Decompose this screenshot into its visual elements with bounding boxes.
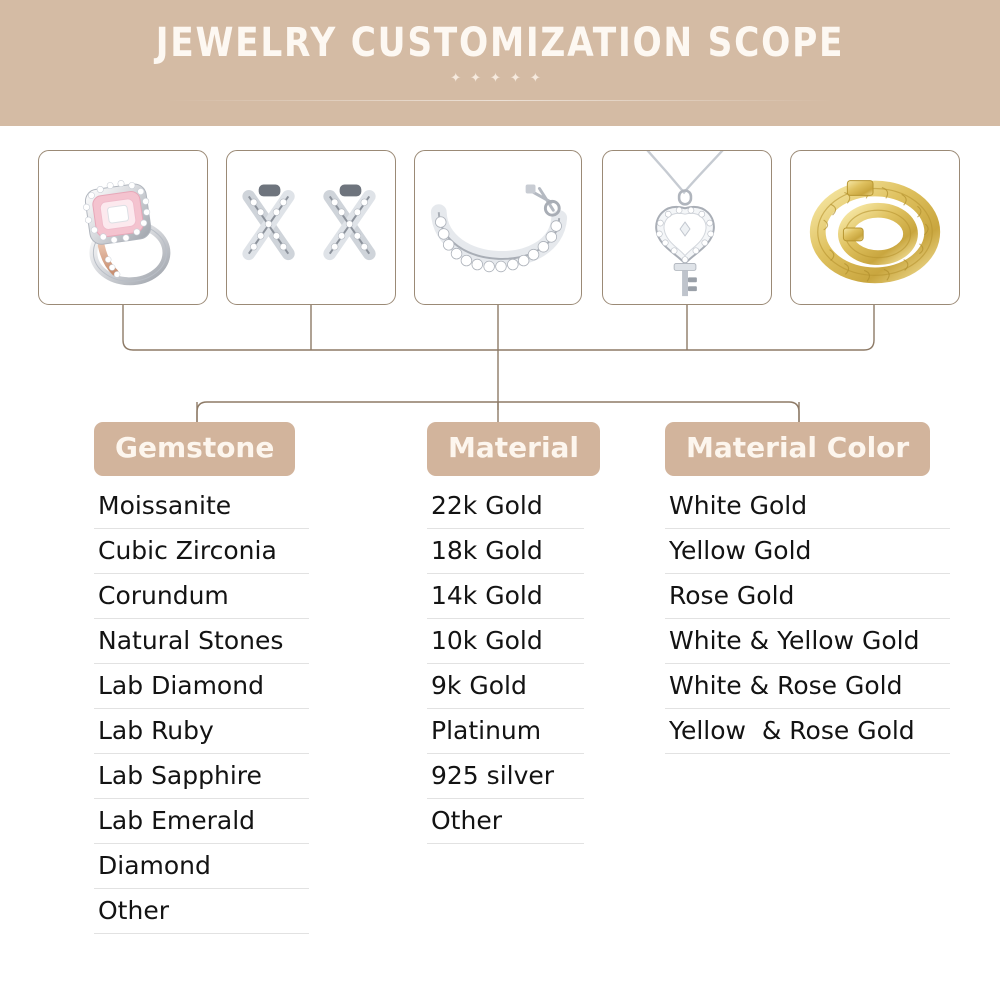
list-item[interactable]: Cubic Zirconia (94, 529, 309, 574)
page-title-part-2: CUSTOMIZATION SCOPE (351, 20, 845, 66)
list-item[interactable]: 925 silver (427, 754, 584, 799)
option-list-material-color: White Gold Yellow Gold Rose Gold White &… (665, 484, 950, 754)
product-card-earrings[interactable] (226, 150, 396, 305)
list-item[interactable]: 10k Gold (427, 619, 584, 664)
category-column-gemstone: Gemstone Moissanite Cubic Zirconia Corun… (94, 422, 309, 476)
option-list-gemstone: Moissanite Cubic Zirconia Corundum Natur… (94, 484, 309, 934)
list-item[interactable]: White Gold (665, 484, 950, 529)
stars-icon: ✦✦✦✦✦ (0, 72, 1000, 86)
product-card-ring[interactable] (38, 150, 208, 305)
product-card-row (0, 150, 1000, 305)
page-title: JEWELRY CUSTOMIZATION SCOPE (70, 21, 930, 65)
list-item[interactable]: Moissanite (94, 484, 309, 529)
ring-icon (39, 151, 207, 304)
connector-card-5 (864, 305, 874, 350)
list-item[interactable]: Lab Emerald (94, 799, 309, 844)
category-column-material-color: Material Color White Gold Yellow Gold Ro… (665, 422, 950, 476)
list-item[interactable]: Corundum (94, 574, 309, 619)
list-item[interactable]: Yellow & Rose Gold (665, 709, 950, 754)
page-title-part-1: JEWELRY (156, 20, 351, 66)
list-item[interactable]: Other (427, 799, 584, 844)
option-list-material: 22k Gold 18k Gold 14k Gold 10k Gold 9k G… (427, 484, 584, 844)
necklace-icon (603, 151, 771, 304)
list-item[interactable]: 18k Gold (427, 529, 584, 574)
connector-card-1 (123, 305, 133, 350)
category-header-material-color[interactable]: Material Color (665, 422, 930, 476)
list-item[interactable]: White & Rose Gold (665, 664, 950, 709)
list-item[interactable]: 22k Gold (427, 484, 584, 529)
product-card-necklace[interactable] (602, 150, 772, 305)
list-item[interactable]: Diamond (94, 844, 309, 889)
list-item[interactable]: Lab Sapphire (94, 754, 309, 799)
list-item[interactable]: White & Yellow Gold (665, 619, 950, 664)
header-divider (166, 100, 834, 101)
category-header-gemstone[interactable]: Gemstone (94, 422, 295, 476)
category-header-material[interactable]: Material (427, 422, 600, 476)
category-column-material: Material 22k Gold 18k Gold 14k Gold 10k … (427, 422, 584, 476)
product-card-chain[interactable] (790, 150, 960, 305)
list-item[interactable]: Lab Ruby (94, 709, 309, 754)
list-item[interactable]: Platinum (427, 709, 584, 754)
list-item[interactable]: Lab Diamond (94, 664, 309, 709)
earrings-icon (227, 151, 395, 304)
list-item[interactable]: 9k Gold (427, 664, 584, 709)
chain-icon (791, 151, 959, 304)
list-item[interactable]: Yellow Gold (665, 529, 950, 574)
list-item[interactable]: Natural Stones (94, 619, 309, 664)
list-item[interactable]: 14k Gold (427, 574, 584, 619)
list-item[interactable]: Rose Gold (665, 574, 950, 619)
bracelet-icon (415, 151, 581, 304)
product-card-bracelet[interactable] (414, 150, 582, 305)
list-item[interactable]: Other (94, 889, 309, 934)
header-band: JEWELRY CUSTOMIZATION SCOPE ✦✦✦✦✦ (0, 0, 1000, 126)
